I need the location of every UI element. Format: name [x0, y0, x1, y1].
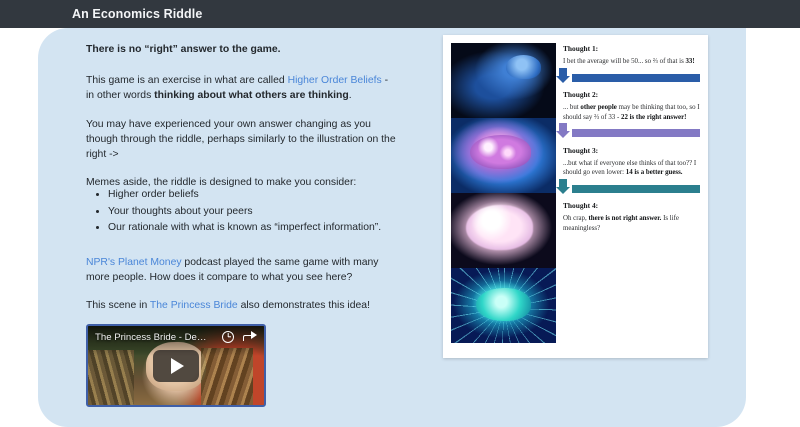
share-icon [243, 331, 256, 342]
list-item: Our rationale with what is known as “imp… [108, 220, 396, 235]
paragraph-higher-order-beliefs: This game is an exercise in what are cal… [86, 73, 396, 103]
watch-later-button[interactable] [222, 331, 234, 343]
paragraph-princess-bride: This scene in The Princess Bride also de… [86, 298, 396, 313]
thought-block-3: Thought 3: ...but what if everyone else … [563, 146, 700, 178]
thought-1-bold: 33! [685, 58, 694, 65]
top-bar: An Economics Riddle [0, 0, 800, 28]
separator-3 [563, 183, 700, 194]
thought-heading: Thought 1: [563, 44, 700, 53]
thought-body: Oh crap, there is not right answer. Is l… [563, 214, 700, 233]
meme-brain-column [443, 35, 556, 358]
thought-2-bold: other people [580, 104, 616, 111]
thought-1-text-a: I bet the average will be 50... so ⅔ of … [563, 58, 685, 65]
thought-block-1: Thought 1: I bet the average will be 50.… [563, 44, 700, 66]
para2-text-a: This game is an exercise in what are cal… [86, 75, 288, 86]
list-item: Your thoughts about your peers [108, 204, 396, 219]
thought-body: ... but other people may be thinking tha… [563, 103, 700, 122]
page-title: An Economics Riddle [72, 7, 202, 21]
para2-bold: thinking about what others are thinking [154, 90, 349, 101]
brain-cosmic-teal-icon [451, 268, 556, 343]
paragraph-planet-money: NPR's Planet Money podcast played the sa… [86, 255, 396, 285]
link-the-princess-bride[interactable]: The Princess Bride [150, 300, 238, 311]
clock-icon [222, 331, 234, 343]
thought-body: ...but what if everyone else thinks of t… [563, 159, 700, 178]
separator-2 [563, 128, 700, 139]
para2-text-c: . [349, 90, 352, 101]
paragraph-answer-changing: You may have experienced your own answer… [86, 117, 396, 163]
thought-4-bold: there is not right answer. [588, 215, 661, 222]
separator-bar [572, 74, 700, 82]
brain-xray-small-icon [451, 43, 556, 118]
thought-block-2: Thought 2: ... but other people may be t… [563, 90, 700, 122]
play-icon [171, 358, 184, 374]
article-text: There is no “right” answer to the game. … [86, 42, 396, 327]
thought-2-text-a: ... but [563, 104, 580, 111]
top-bar-left-rail [0, 0, 62, 28]
consider-list: Higher order beliefs Your thoughts about… [86, 187, 396, 235]
brain-glowing-pink-icon [451, 118, 556, 193]
separator-1 [563, 72, 700, 83]
thought-heading: Thought 4: [563, 201, 700, 210]
link-npr-planet-money[interactable]: NPR's Planet Money [86, 257, 182, 268]
meme-thought-column: Thought 1: I bet the average will be 50.… [556, 35, 708, 358]
brain-bright-white-icon [451, 193, 556, 268]
play-button[interactable] [153, 350, 199, 382]
video-title: The Princess Bride - De… [95, 332, 206, 343]
para6-text-b: also demonstrates this idea! [238, 300, 370, 311]
thought-4-text-a: Oh crap, [563, 215, 588, 222]
thought-heading: Thought 2: [563, 90, 700, 99]
thought-2-bold-2: 22 is the right answer! [621, 114, 686, 121]
content-card: There is no “right” answer to the game. … [38, 28, 746, 427]
separator-bar [572, 185, 700, 193]
thought-block-4: Thought 4: Oh crap, there is not right a… [563, 201, 700, 233]
separator-bar [572, 129, 700, 137]
thought-3-bold: 14 is a better guess. [626, 169, 683, 176]
video-embed-princess-bride[interactable]: The Princess Bride - De… [86, 324, 266, 407]
para6-text-a: This scene in [86, 300, 150, 311]
thought-body: I bet the average will be 50... so ⅔ of … [563, 57, 700, 66]
share-button[interactable] [243, 331, 256, 342]
link-higher-order-beliefs[interactable]: Higher Order Beliefs [288, 75, 382, 86]
expanding-brain-meme: Thought 1: I bet the average will be 50.… [443, 35, 708, 358]
lead-paragraph: There is no “right” answer to the game. [86, 42, 396, 57]
thought-heading: Thought 3: [563, 146, 700, 155]
